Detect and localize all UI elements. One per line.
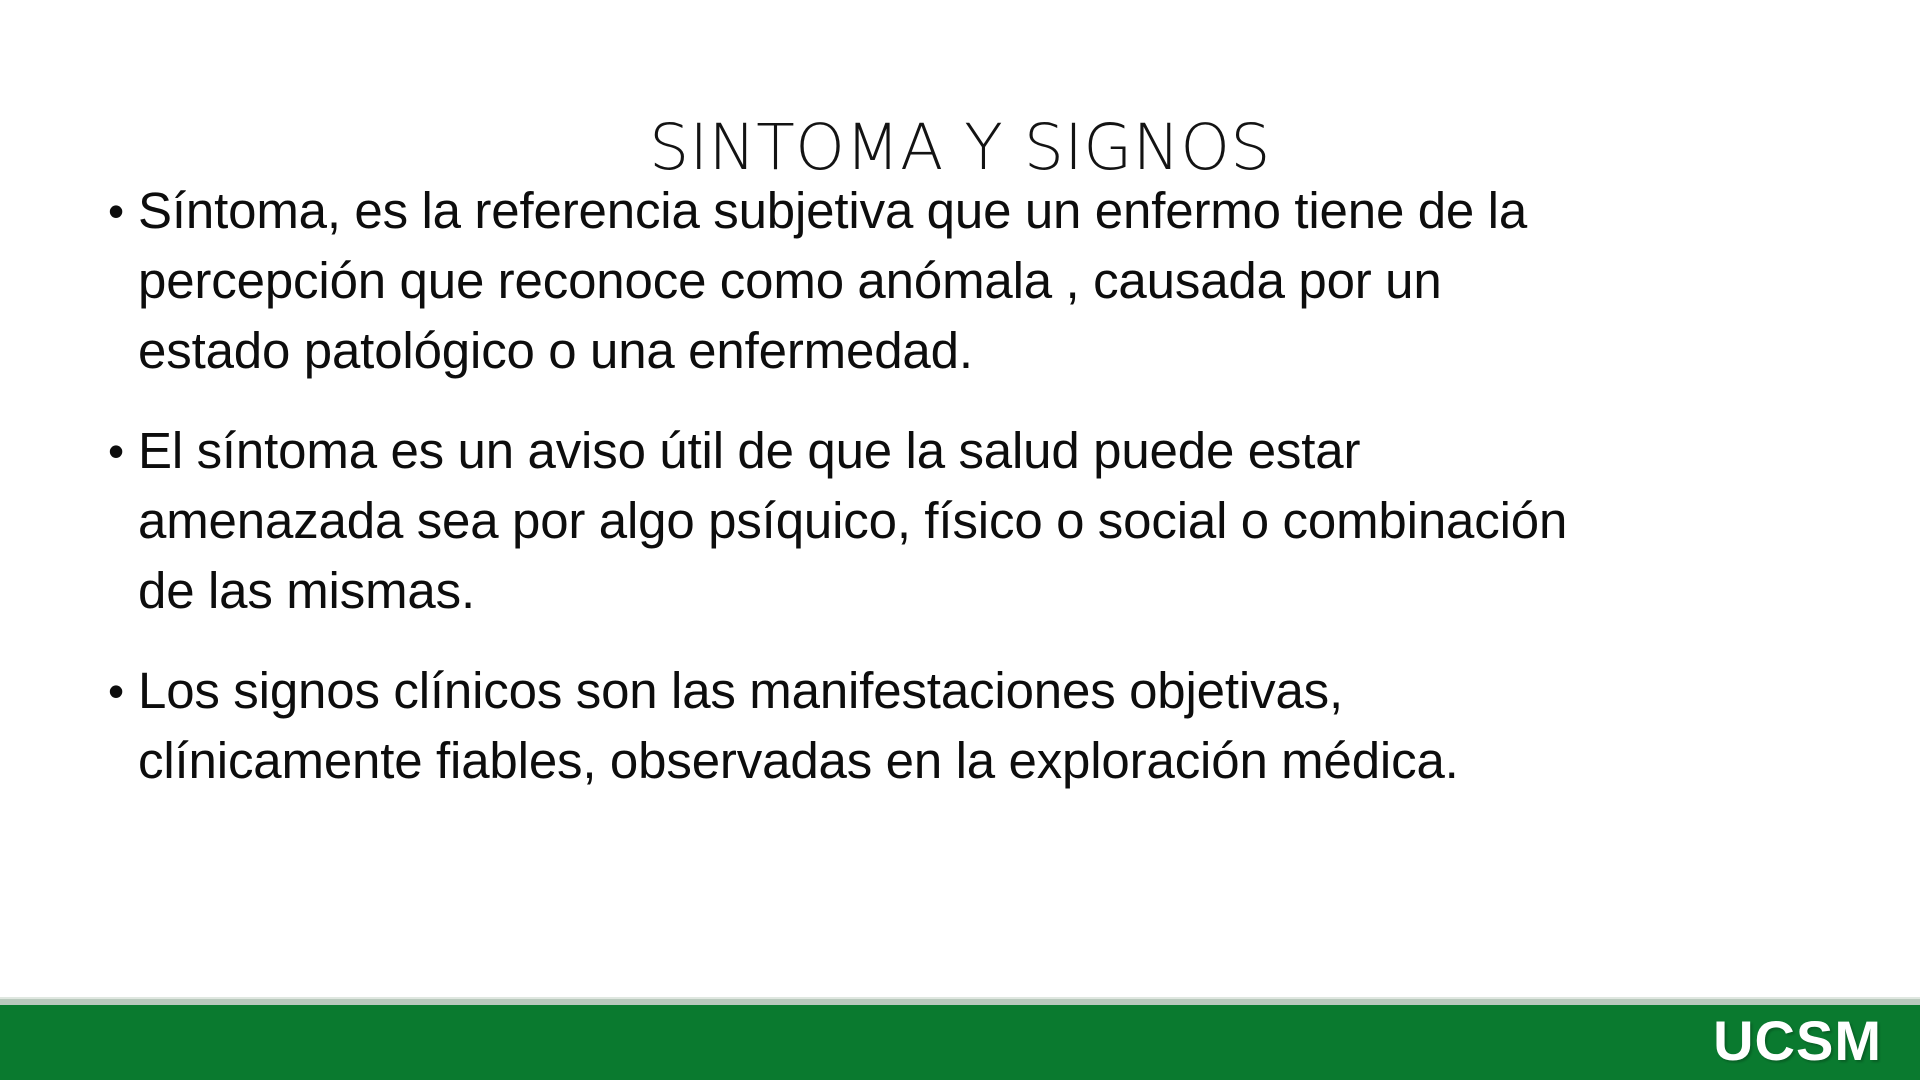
bullet-text: Síntoma, es la referencia subjetiva que … bbox=[138, 176, 1838, 386]
bullet-point-icon: • bbox=[108, 656, 138, 726]
bullet-line: estado patológico o una enfermedad. bbox=[138, 316, 1838, 386]
bullet-text: El síntoma es un aviso útil de que la sa… bbox=[138, 416, 1838, 626]
bullet-line: clínicamente fiables, observadas en la e… bbox=[138, 726, 1838, 796]
bullet-line: percepción que reconoce como anómala , c… bbox=[138, 246, 1838, 316]
bullet-list: • Síntoma, es la referencia subjetiva qu… bbox=[108, 176, 1838, 796]
list-item: • Síntoma, es la referencia subjetiva qu… bbox=[108, 176, 1838, 386]
list-item: • El síntoma es un aviso útil de que la … bbox=[108, 416, 1838, 626]
bullet-text: Los signos clínicos son las manifestacio… bbox=[138, 656, 1838, 796]
bullet-point-icon: • bbox=[108, 176, 138, 246]
footer-bar bbox=[0, 1005, 1920, 1080]
bullet-line: Síntoma, es la referencia subjetiva que … bbox=[138, 176, 1838, 246]
bullet-line: de las mismas. bbox=[138, 556, 1838, 626]
ucsm-logo: UCSM bbox=[1713, 1008, 1882, 1074]
bullet-line: Los signos clínicos son las manifestacio… bbox=[138, 656, 1838, 726]
bullet-line: amenazada sea por algo psíquico, físico … bbox=[138, 486, 1838, 556]
page-title: SINTOMA Y SIGNOS bbox=[0, 114, 1920, 182]
slide-canvas: SINTOMA Y SIGNOS • Síntoma, es la refere… bbox=[0, 0, 1920, 1080]
list-item: • Los signos clínicos son las manifestac… bbox=[108, 656, 1838, 796]
bullet-point-icon: • bbox=[108, 416, 138, 486]
bullet-line: El síntoma es un aviso útil de que la sa… bbox=[138, 416, 1838, 486]
